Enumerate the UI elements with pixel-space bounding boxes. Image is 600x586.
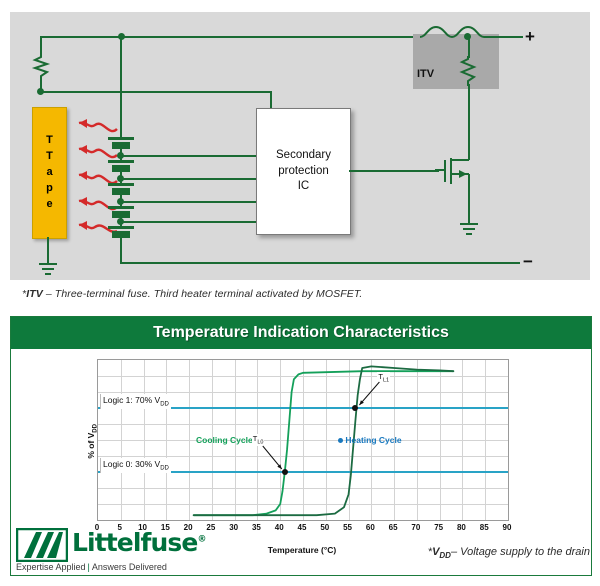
legend-label-heating: Heating Cycle [345, 435, 401, 445]
x-tick-label: 55 [343, 523, 352, 532]
vdd-footnote: *VDD– Voltage supply to the drain [428, 546, 590, 560]
ttape-letter-0: T [46, 133, 53, 149]
ttape-letter-4: e [46, 197, 52, 213]
marker-tl0 [282, 469, 288, 475]
x-tick-label: 45 [298, 523, 307, 532]
ttape-letter-1: T [46, 149, 53, 165]
label-tl1: TL1 [377, 372, 390, 384]
itv-footnote: *ITV – Three-terminal fuse. Third heater… [22, 288, 362, 300]
x-tick-label: 40 [275, 523, 284, 532]
wire-tap1-to-ic [120, 155, 256, 157]
footnote-text: – Three-terminal fuse. Third heater term… [43, 288, 363, 300]
x-tick-label: 60 [366, 523, 375, 532]
x-tick-label: 75 [434, 523, 443, 532]
hysteresis-curves [98, 360, 508, 520]
vdd-note-text: – Voltage supply to the drain [451, 546, 590, 558]
x-tick-label: 90 [503, 523, 512, 532]
x-tick-label: 35 [252, 523, 261, 532]
ttape-component: T T a p e [32, 107, 67, 239]
ttape-letter-2: a [46, 165, 52, 181]
ic-label-line-3: IC [298, 180, 310, 192]
wire-itv-heater-bottom [468, 84, 470, 94]
logo-brand-text: Littelfuse [72, 528, 197, 557]
littelfuse-wordmark: Littelfuse® [72, 528, 206, 557]
ground-symbol-left-icon [37, 262, 59, 278]
ground-symbol-mosfet-icon [458, 222, 480, 238]
logo-registered-mark: ® [197, 535, 205, 545]
x-tick-label: 80 [457, 523, 466, 532]
wire-tap3-to-ic [120, 201, 256, 203]
x-tick-label: 65 [389, 523, 398, 532]
littelfuse-mark-icon [16, 528, 68, 562]
x-tick-label: 50 [320, 523, 329, 532]
ic-label-line-2: protection [278, 165, 329, 177]
x-tick-label: 70 [411, 523, 420, 532]
wire-negative-rail [120, 262, 520, 264]
littelfuse-logo: Littelfuse® Expertise Applied|Answers De… [14, 528, 244, 582]
wire-top-rail [40, 36, 420, 38]
itv-label: ITV [417, 68, 434, 80]
chart-title: Temperature Indication Characteristics [11, 317, 591, 349]
tagline-right: Answers Delivered [92, 562, 167, 572]
wire-sense-to-ic [40, 91, 272, 93]
wire-tap4-to-ic [120, 221, 256, 223]
wire-sense-into-ic [270, 91, 272, 109]
wire-itv-heater-top [468, 36, 470, 58]
ic-label-line-1: Secondary [276, 149, 331, 161]
mosfet-icon [435, 150, 481, 196]
resistor-left-icon [32, 54, 50, 80]
wire-battery-stack-top [120, 36, 122, 139]
wire-ttape-to-ground [47, 237, 49, 264]
wire-left-down-a [40, 36, 42, 56]
wire-tap2-to-ic [120, 178, 256, 180]
positive-terminal-label: + [525, 27, 535, 47]
legend-dot-heating [338, 438, 343, 443]
ttape-letter-3: p [46, 181, 53, 197]
label-tl0: TL0 [252, 434, 265, 446]
legend-cooling-cycle: Cooling Cycle [196, 435, 260, 445]
legend-heating-cycle: Heating Cycle [338, 435, 402, 445]
plot-area: Logic 1: 70% VDD Logic 0: 30% VDD Coolin… [97, 359, 509, 521]
littelfuse-tagline: Expertise Applied|Answers Delivered [16, 562, 167, 572]
wire-battery-stack-bottom [120, 236, 122, 264]
x-tick-label: 85 [480, 523, 489, 532]
wire-mosfet-drain-up [468, 92, 470, 154]
itv-heater-resistor-icon [459, 56, 477, 86]
wire-ic-to-mosfet-gate [349, 170, 439, 172]
wire-mosfet-source-down [468, 192, 470, 224]
circuit-diagram-panel: T T a p e [10, 12, 590, 280]
legend-label-cooling: Cooling Cycle [196, 435, 253, 445]
ic-label: Secondary protection IC [276, 148, 331, 195]
tagline-left: Expertise Applied [16, 562, 86, 572]
secondary-protection-ic-box: Secondary protection IC [256, 108, 351, 235]
footnote-abbr: ITV [26, 288, 43, 300]
negative-terminal-label: − [523, 252, 533, 272]
